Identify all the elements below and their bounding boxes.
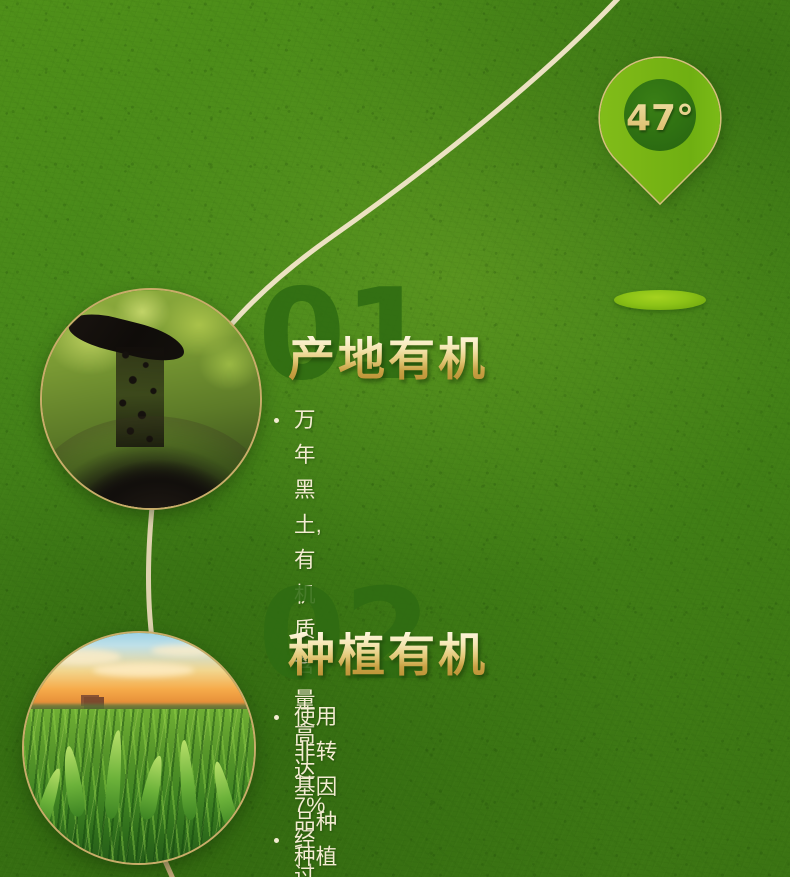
list-item: 使用非转基因品种种植 xyxy=(272,700,338,875)
bullet-dot-icon xyxy=(274,715,279,720)
list-item-text: 使用非转基因品种种植 xyxy=(294,705,338,869)
cornfield-sunset-photo xyxy=(24,633,254,863)
corn-blade-shape xyxy=(138,754,166,821)
cloud-shape xyxy=(151,645,220,657)
section-02-bullet-list: 使用非转基因品种种植 施用有机肥、人工除草、物理除虫等措施呵护农作物自然生长 种… xyxy=(272,700,338,877)
section-02-title: 种植有机 xyxy=(288,632,488,679)
temperature-label: 47° xyxy=(600,58,720,178)
corn-blade-shape xyxy=(34,767,64,830)
cloud-shape xyxy=(42,649,120,665)
section-01-photo xyxy=(42,290,260,508)
corn-blade-shape xyxy=(60,745,87,818)
corn-blade-shape xyxy=(209,761,239,830)
corn-field-foliage xyxy=(24,709,254,863)
corn-blade-shape xyxy=(176,739,198,820)
section-01-title: 产地有机 xyxy=(288,336,488,383)
bullet-dot-icon xyxy=(274,418,279,423)
corn-blade-shape xyxy=(104,730,124,820)
cloud-shape xyxy=(93,663,194,677)
map-pin-shadow-ellipse xyxy=(614,290,706,310)
black-soil-photo xyxy=(42,290,260,508)
temperature-map-pin[interactable]: 47° xyxy=(600,58,730,318)
organic-product-infographic: 47° 01 产地有机 万年黑土,有机质含量高达7% 经过至少2年的有机转换期 … xyxy=(0,0,790,877)
section-02-photo xyxy=(24,633,254,863)
